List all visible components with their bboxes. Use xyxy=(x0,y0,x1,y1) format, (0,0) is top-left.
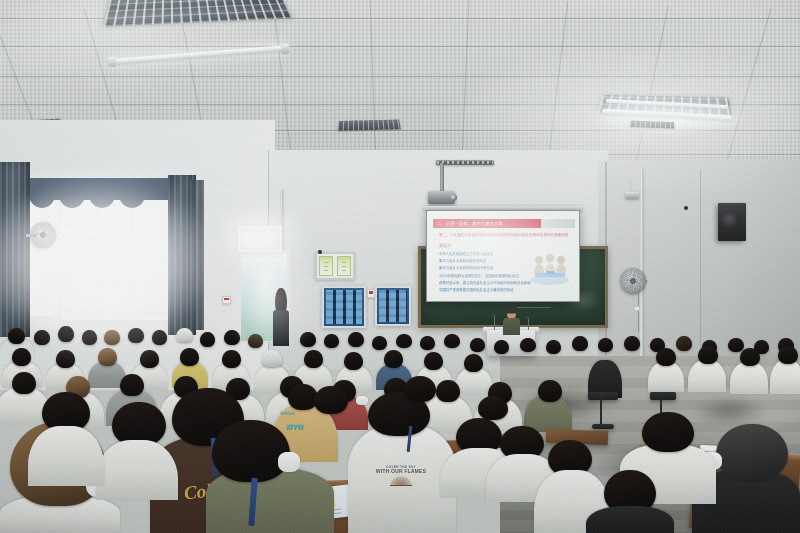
audience-shoulders xyxy=(28,426,104,486)
audience-head xyxy=(698,346,718,364)
tshirt-paint-graphic-line2: MYN xyxy=(286,424,303,431)
audience-head xyxy=(152,330,167,345)
audience-head xyxy=(642,412,694,452)
audience-head xyxy=(128,328,144,343)
audience-head xyxy=(34,330,50,345)
audience-head xyxy=(180,348,199,366)
wall-outlet[interactable] xyxy=(634,306,640,311)
slide-lead-in: 表现为： xyxy=(439,243,454,249)
audience-head xyxy=(58,326,74,342)
tshirt-paint-graphic-line1: STUDI xyxy=(280,410,295,415)
face-mask xyxy=(356,396,368,405)
slide-title: 二、全国一盘棋，集中力量办大事 xyxy=(433,219,503,228)
presenter-torso xyxy=(503,318,520,335)
tube-end-cap xyxy=(108,57,117,68)
audience-head xyxy=(728,338,744,352)
audience-head xyxy=(598,338,613,352)
fan-pull-cord[interactable] xyxy=(638,292,639,332)
audience-head xyxy=(740,348,760,366)
audience-head xyxy=(300,332,316,347)
curtain-left[interactable] xyxy=(0,162,30,337)
audience-head xyxy=(344,352,363,370)
audience-head xyxy=(656,348,676,366)
poster-pair xyxy=(315,252,355,280)
notice-board-left xyxy=(322,286,366,328)
tshirt-graphic-emblem xyxy=(390,476,412,486)
wall-anchor xyxy=(684,206,688,210)
audience-head xyxy=(104,330,120,345)
projector-drop-pole xyxy=(440,163,444,193)
audience-head xyxy=(324,334,339,348)
audience-head xyxy=(494,340,509,354)
poster-right xyxy=(337,256,351,276)
wall-speaker xyxy=(718,203,746,241)
audience-shoulders xyxy=(688,360,726,392)
slide-title-bar-tail xyxy=(541,219,575,228)
audience-head xyxy=(538,380,562,402)
sign-red-band xyxy=(369,291,373,294)
curtain-valance-scallop xyxy=(28,197,176,211)
lecture-hall-photo: 二、全国一盘棋，集中力量办大事 第二，十九届四中全会的决定中指出我国国家制度和国… xyxy=(0,0,800,533)
fan-mount-arm xyxy=(638,280,647,283)
audience-head xyxy=(98,348,117,366)
curtain-fold xyxy=(190,180,204,330)
ac-diffuser-vent xyxy=(338,120,401,131)
standing-person xyxy=(272,288,290,344)
poster-left xyxy=(319,256,333,276)
microphone-head-icon xyxy=(492,314,496,317)
chalk-mark xyxy=(517,307,551,308)
wall-sign-fire-notice xyxy=(367,289,375,298)
tshirt-flames-graphic: COVER THE SKY WITH OUR FLAMES xyxy=(362,454,440,498)
curtain-valance xyxy=(28,178,176,200)
audience-head xyxy=(444,334,460,348)
slide-title-bar: 二、全国一盘棋，集中力量办大事 xyxy=(433,219,541,228)
fan-mount-arm xyxy=(26,234,36,237)
audience-head xyxy=(222,350,241,368)
presenter xyxy=(503,310,520,334)
audience-head xyxy=(140,350,159,368)
security-camera xyxy=(625,192,639,199)
tshirt-graphic-line2: WITH OUR FLAMES xyxy=(376,470,426,475)
person-torso xyxy=(273,310,289,346)
audience-head xyxy=(404,376,436,402)
audience-head xyxy=(224,330,240,345)
audience-head xyxy=(436,380,460,402)
ceiling-grid-line xyxy=(0,46,800,47)
curtain-fabric-texture xyxy=(190,180,204,330)
projection-screen[interactable]: 二、全国一盘棋，集中力量办大事 第二，十九届四中全会的决定中指出我国国家制度和国… xyxy=(426,210,580,302)
floor-shadow xyxy=(690,396,770,426)
audience-head xyxy=(56,350,75,368)
audience-head xyxy=(778,346,798,364)
slide-subtitle: 第二，十九届四中全会的决定中指出我国国家制度和国家治理体系具有的显著优势 xyxy=(439,233,571,238)
audience-head xyxy=(120,374,144,396)
microphone-stand xyxy=(528,318,529,330)
sign-red-band xyxy=(224,298,229,300)
audience-head xyxy=(478,396,508,420)
audience-head-with-cap xyxy=(262,350,282,367)
notice-board-right xyxy=(375,286,411,326)
audience-head xyxy=(200,332,215,347)
audience-shoulders xyxy=(648,362,684,392)
audience-head xyxy=(572,336,588,351)
window-mullion xyxy=(130,196,133,316)
audience-head xyxy=(304,350,323,368)
audience-head xyxy=(384,350,403,368)
audience-head xyxy=(396,334,412,348)
audience-head xyxy=(8,328,25,344)
projector-ceiling-track xyxy=(436,160,494,165)
audience-shoulders xyxy=(730,362,768,394)
curtain-fabric-texture xyxy=(0,162,30,337)
audience-head xyxy=(470,338,485,352)
chair-base xyxy=(592,424,614,429)
window-mullion xyxy=(66,236,166,238)
audience-head xyxy=(12,372,36,394)
tube-end-cap xyxy=(281,44,290,55)
audience-head xyxy=(372,336,387,350)
slide-bullet: 中国共产党领导是中国特色社会主义最本质的特征 xyxy=(439,287,551,294)
window-mullion xyxy=(96,196,99,316)
audience-head xyxy=(676,336,692,351)
chair-seat[interactable] xyxy=(588,392,618,400)
camera-mount xyxy=(630,180,632,192)
audience-shoulders xyxy=(96,440,178,500)
audience-head xyxy=(348,332,364,347)
microphone-stand xyxy=(494,316,495,330)
projector-lens-icon xyxy=(450,194,457,201)
audience-head xyxy=(420,336,435,350)
ceiling-hook xyxy=(318,250,322,254)
microphone-head-icon xyxy=(526,316,530,319)
face-mask xyxy=(278,452,300,472)
audience-head xyxy=(212,420,290,482)
audience-head-with-cap xyxy=(176,328,193,342)
audience-head xyxy=(624,336,640,351)
audience-head-grey-hair xyxy=(716,424,788,480)
audience-head xyxy=(314,386,348,414)
presentation-slide: 二、全国一盘棋，集中力量办大事 第二，十九届四中全会的决定中指出我国国家制度和国… xyxy=(427,211,579,301)
audience-shoulders xyxy=(770,360,800,394)
audience-head xyxy=(12,348,31,366)
audience-head xyxy=(464,354,483,372)
wall-sign-notice xyxy=(222,296,231,304)
slide-illustration xyxy=(526,247,574,287)
ceiling-grid-line xyxy=(0,76,800,77)
audience-head xyxy=(424,352,443,370)
chair-seat[interactable] xyxy=(650,392,676,400)
audience-head xyxy=(82,330,97,345)
audience-shoulders xyxy=(586,506,674,533)
audience-head xyxy=(248,334,263,348)
window-glass[interactable] xyxy=(66,196,166,316)
audience-head xyxy=(546,340,561,354)
audience-head xyxy=(520,338,536,352)
transom-window-glass xyxy=(241,229,279,249)
